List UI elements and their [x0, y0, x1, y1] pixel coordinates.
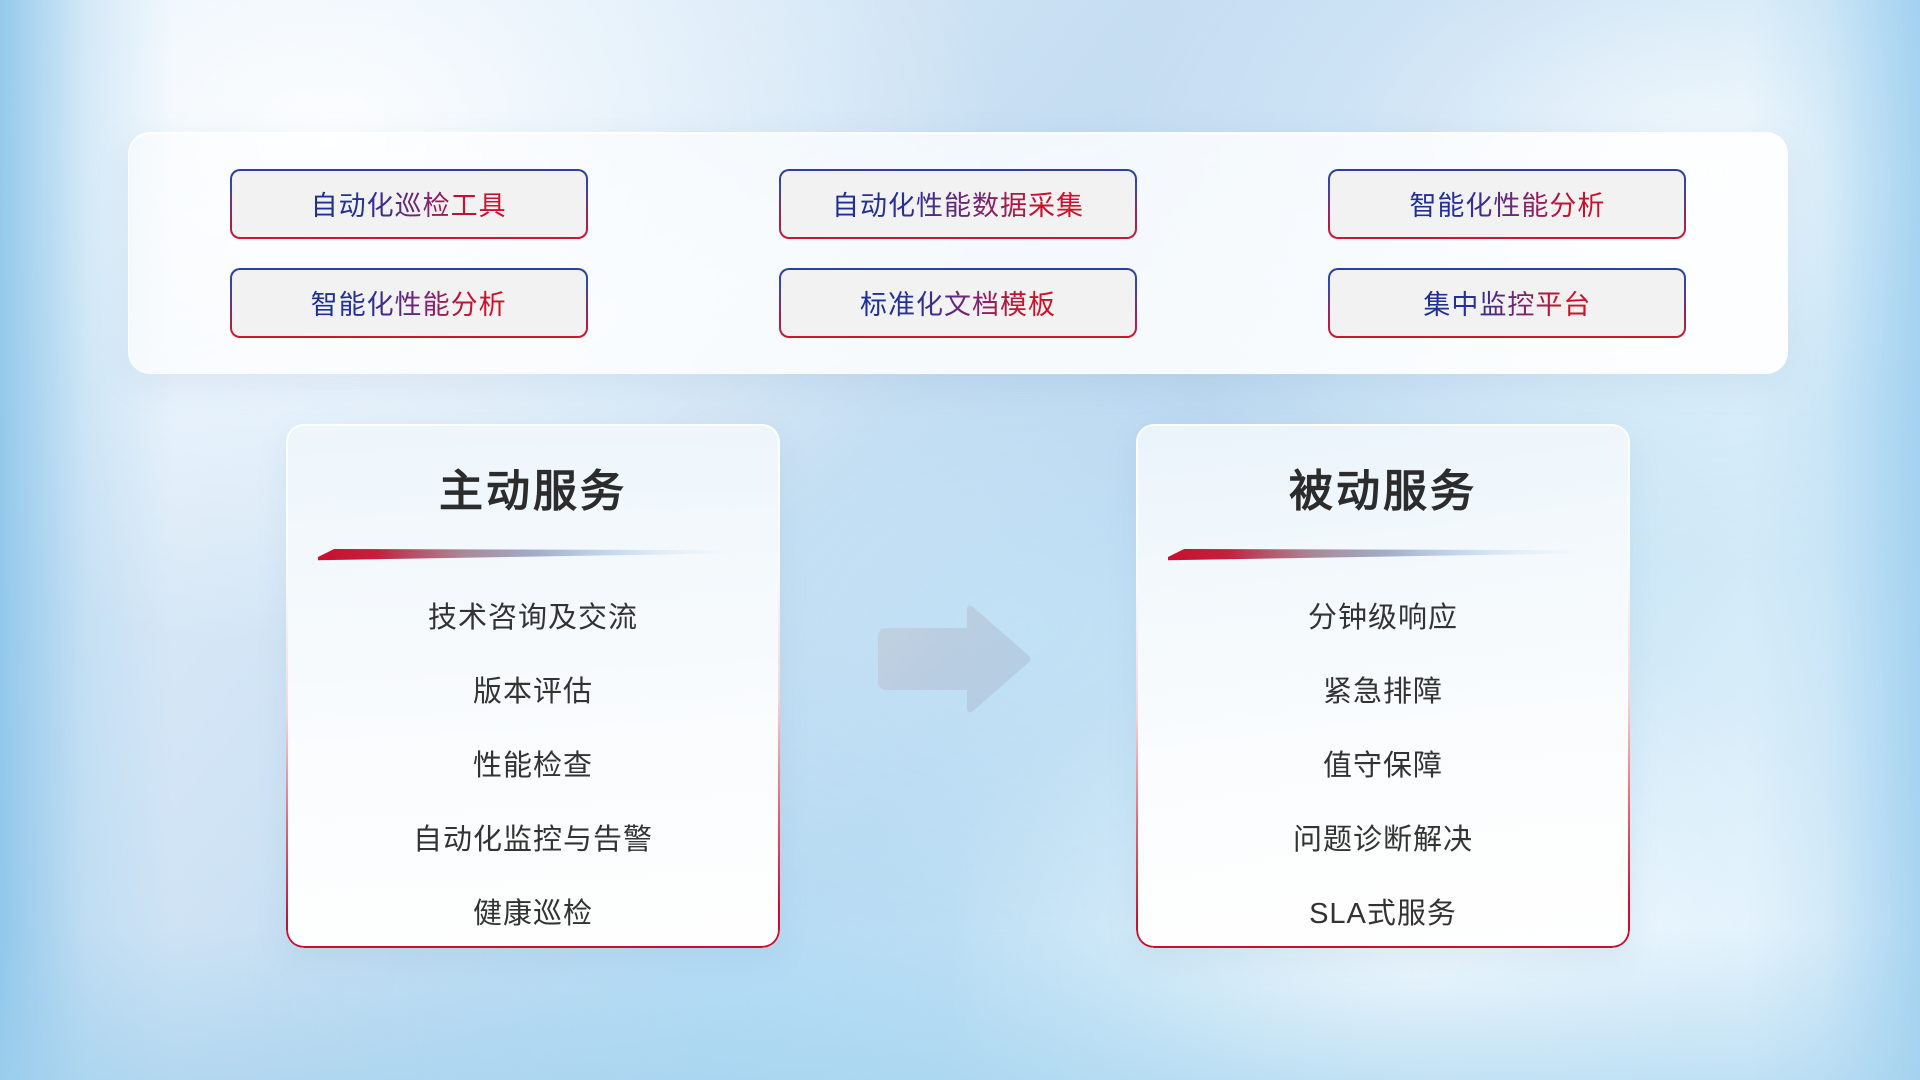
capability-tag-intelligent-performance-analysis-1[interactable]: 智能化性能分析 — [1328, 169, 1686, 239]
list-item: 问题诊断解决 — [1174, 813, 1592, 868]
tag-inner: 智能化性能分析 — [1330, 171, 1684, 237]
service-card-reactive: 被动服务 分钟级响应 紧急排障 — [1136, 424, 1630, 948]
tag-inner: 自动化性能数据采集 — [781, 171, 1135, 237]
list-item: 分钟级响应 — [1174, 591, 1592, 646]
tag-inner: 标准化文档模板 — [781, 270, 1135, 336]
list-item: 自动化监控与告警 — [324, 813, 742, 868]
service-list-reactive: 分钟级响应 紧急排障 值守保障 问题诊断解决 SLA式服务 — [1174, 591, 1592, 948]
card-body: 被动服务 分钟级响应 紧急排障 — [1136, 424, 1630, 948]
title-divider — [1168, 545, 1590, 561]
card-title: 被动服务 — [1174, 464, 1592, 519]
right-arrow-icon — [872, 604, 1032, 716]
service-list-proactive: 技术咨询及交流 版本评估 性能检查 自动化监控与告警 健康巡检 — [324, 591, 742, 948]
list-item: 版本评估 — [324, 665, 742, 720]
capability-tag-automated-inspection-tool[interactable]: 自动化巡检工具 — [230, 169, 588, 239]
tag-inner: 智能化性能分析 — [232, 270, 586, 336]
list-item: 值守保障 — [1174, 739, 1592, 794]
capability-tag-centralized-monitoring-platform[interactable]: 集中监控平台 — [1328, 268, 1686, 338]
tag-inner: 集中监控平台 — [1330, 270, 1684, 336]
list-item: 性能检查 — [324, 739, 742, 794]
tag-label: 集中监控平台 — [1423, 283, 1591, 322]
title-divider — [318, 545, 740, 561]
tag-inner: 自动化巡检工具 — [232, 171, 586, 237]
card-title: 主动服务 — [324, 464, 742, 519]
tag-label: 自动化性能数据采集 — [832, 184, 1084, 223]
tag-label: 自动化巡检工具 — [311, 184, 507, 223]
background-edge-bottom — [0, 929, 1920, 1080]
tag-label: 智能化性能分析 — [1409, 184, 1605, 223]
list-item: 紧急排障 — [1174, 665, 1592, 720]
card-body: 主动服务 技术咨询及交流 版本评估 — [286, 424, 780, 948]
service-card-proactive: 主动服务 技术咨询及交流 版本评估 — [286, 424, 780, 948]
tag-label: 智能化性能分析 — [311, 283, 507, 322]
tag-label: 标准化文档模板 — [860, 283, 1056, 322]
capability-tag-intelligent-performance-analysis-2[interactable]: 智能化性能分析 — [230, 268, 588, 338]
list-item: SLA式服务 — [1174, 887, 1592, 942]
list-item: 健康巡检 — [324, 887, 742, 942]
capability-tag-standardized-document-template[interactable]: 标准化文档模板 — [779, 268, 1137, 338]
list-item: 技术咨询及交流 — [324, 591, 742, 646]
capability-panel: 自动化巡检工具 自动化性能数据采集 智能化性能分析 智能化性能分析 标准化文档模… — [128, 132, 1788, 374]
capability-tag-automated-performance-data-collection[interactable]: 自动化性能数据采集 — [779, 169, 1137, 239]
